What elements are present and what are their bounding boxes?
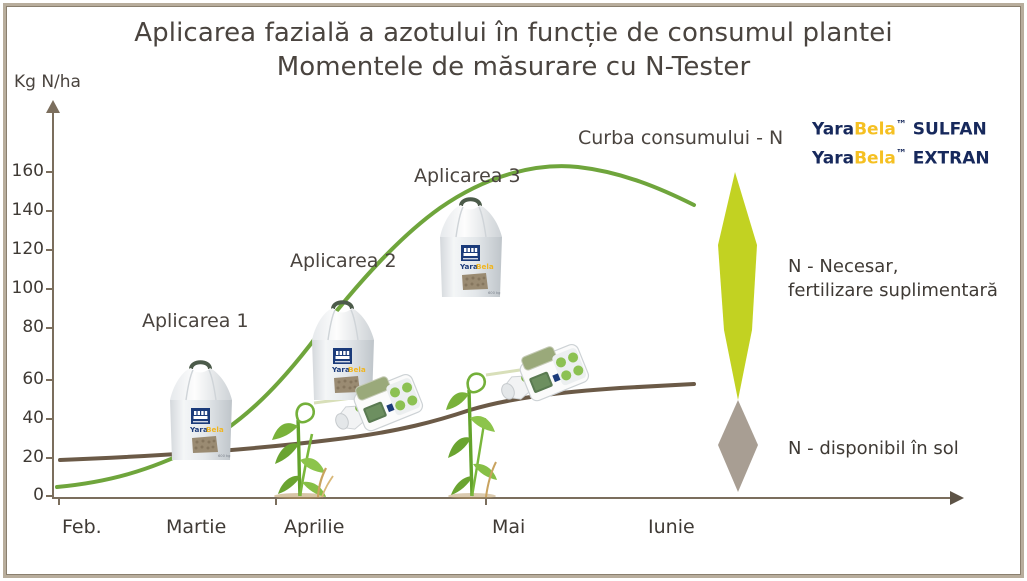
y-tick-mark-160 <box>46 171 53 173</box>
x-tick-label-martie: Martie <box>166 516 226 538</box>
x-tick-mark-mai <box>485 497 487 505</box>
trademark-icon-2: ™ <box>896 147 907 160</box>
y-tick-120: 120 <box>0 239 44 259</box>
y-axis-line <box>52 110 54 498</box>
brand-legend: YaraBela™ SULFAN YaraBela™ EXTRAN <box>812 113 990 170</box>
y-tick-80: 80 <box>0 317 44 337</box>
brand-product-extran: EXTRAN <box>913 148 990 168</box>
fertilizer-bag-1: Yara Bela 600 kg <box>160 356 242 464</box>
title-line-2: Momentele de măsurare cu N-Tester <box>0 50 1027 84</box>
x-tick-mark-feb <box>58 497 60 505</box>
brand-bela-text: Bela <box>854 120 896 140</box>
x-tick-label-feb: Feb. <box>62 516 102 538</box>
brand-yara-text: Yara <box>812 120 854 140</box>
curve-label-consumption: Curba consumului - N <box>578 127 783 149</box>
label-aplicarea-1: Aplicarea 1 <box>142 310 249 332</box>
y-tick-mark-40 <box>46 418 53 420</box>
y-tick-mark-80 <box>46 327 53 329</box>
label-aplicarea-2: Aplicarea 2 <box>290 250 397 272</box>
n-tester-device-2 <box>496 342 596 410</box>
chart-title: Aplicarea fazială a azotului în funcție … <box>0 16 1027 84</box>
x-axis-line <box>52 497 952 499</box>
y-tick-mark-0 <box>46 495 53 497</box>
label-aplicarea-3: Aplicarea 3 <box>414 165 521 187</box>
annotation-need-line-2: fertilizare suplimentară <box>788 279 998 303</box>
brand-line-sulfan: YaraBela™ SULFAN <box>812 113 990 142</box>
y-tick-140: 140 <box>0 200 44 220</box>
y-tick-mark-60 <box>46 379 53 381</box>
svg-text:600 kg: 600 kg <box>218 454 230 458</box>
y-tick-0: 0 <box>0 485 44 505</box>
fertilizer-bag-3: Yara Bela 600 kg <box>430 193 512 301</box>
x-tick-mark-aprilie <box>275 497 277 505</box>
wheat-plant-seedling-1 <box>272 404 333 499</box>
wheat-plant-seedling-2 <box>446 374 497 499</box>
y-tick-160: 160 <box>0 161 44 181</box>
y-tick-40: 40 <box>0 408 44 428</box>
soil-nitrogen-diamond <box>718 400 758 492</box>
brand-bela-text-2: Bela <box>854 148 896 168</box>
y-tick-60: 60 <box>0 369 44 389</box>
y-tick-mark-100 <box>46 288 53 290</box>
svg-text:Bela: Bela <box>476 262 494 271</box>
trademark-icon: ™ <box>896 118 907 131</box>
y-tick-20: 20 <box>0 447 44 467</box>
x-tick-label-aprilie: Aprilie <box>284 516 344 538</box>
need-nitrogen-diamond <box>718 172 757 400</box>
x-tick-label-mai: Mai <box>492 516 525 538</box>
chart-figure: Aplicarea fazială a azotului în funcție … <box>0 0 1027 581</box>
y-tick-mark-120 <box>46 249 53 251</box>
brand-yara-text-2: Yara <box>812 148 854 168</box>
annotation-nitrogen-soil: N - disponibil în sol <box>788 437 959 461</box>
title-line-1: Aplicarea fazială a azotului în funcție … <box>0 16 1027 50</box>
x-tick-label-iunie: Iunie <box>648 516 695 538</box>
x-axis-arrow <box>950 491 964 505</box>
y-tick-mark-140 <box>46 210 53 212</box>
y-tick-mark-20 <box>46 457 53 459</box>
svg-text:Bela: Bela <box>206 425 224 434</box>
y-axis-unit-label: Kg N/ha <box>14 72 81 92</box>
brand-product-sulfan: SULFAN <box>913 120 987 140</box>
annotation-need-line-1: N - Necesar, <box>788 255 998 279</box>
n-tester-device-1 <box>330 372 430 440</box>
annotation-nitrogen-needed: N - Necesar, fertilizare suplimentară <box>788 255 998 303</box>
svg-text:600 kg: 600 kg <box>488 291 500 295</box>
brand-line-extran: YaraBela™ EXTRAN <box>812 142 990 171</box>
y-tick-100: 100 <box>0 278 44 298</box>
